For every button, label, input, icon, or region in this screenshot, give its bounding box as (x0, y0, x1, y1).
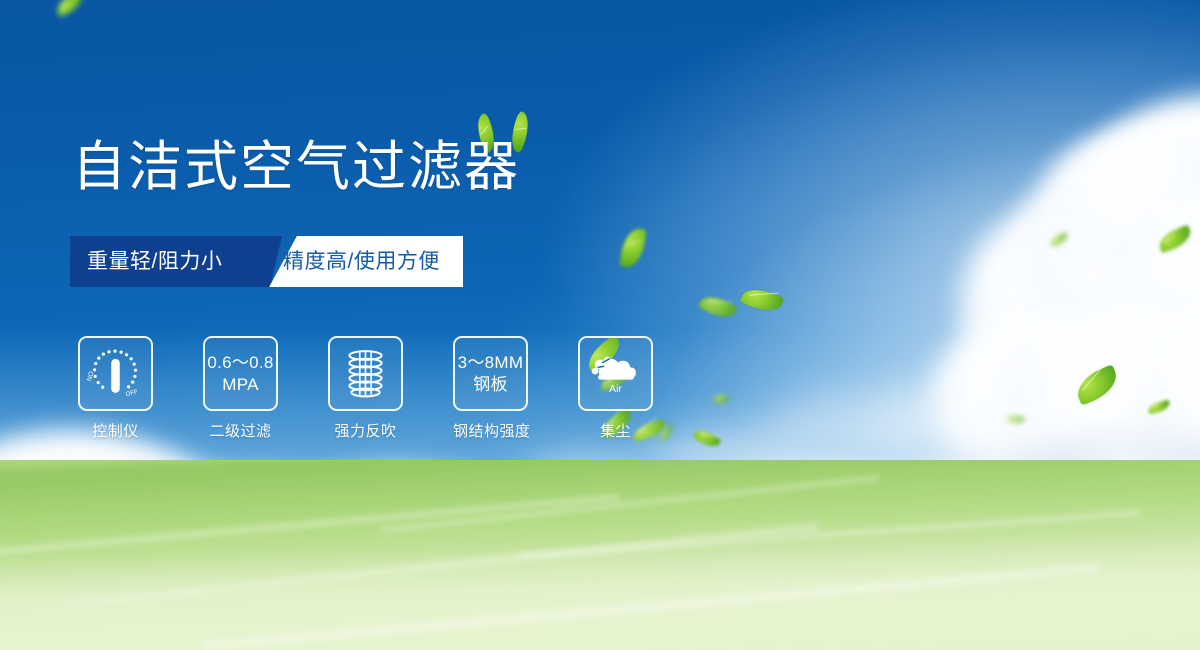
gauge-label-off: OFF (125, 388, 139, 398)
feature-item-backblow[interactable]: 强力反吹 (328, 336, 403, 441)
subtitle-right-text: 精度高/使用方便 (283, 236, 440, 287)
grass-field (0, 460, 1200, 650)
feature-box-line1: 0.6～0.8 (207, 352, 273, 373)
feature-box-line2: MPA (222, 374, 258, 395)
feature-item-controller[interactable]: NO OFF 控制仪 (78, 336, 153, 441)
subtitle-bar: 重量轻/阻力小 精度高/使用方便 (70, 236, 463, 287)
feature-label: 二级过滤 (203, 420, 278, 441)
feature-icon-box: Air (578, 336, 653, 411)
steel-plate-text-icon: 3～8MM 钢板 (455, 338, 526, 409)
feature-icon-box: 0.6～0.8 MPA (203, 336, 278, 411)
feature-item-pressure[interactable]: 0.6～0.8 MPA 二级过滤 (203, 336, 278, 441)
feature-label: 强力反吹 (328, 420, 403, 441)
feature-box-line1: 3～8MM (458, 352, 524, 373)
feature-item-steel[interactable]: 3～8MM 钢板 钢结构强度 (453, 336, 528, 441)
product-banner: 自洁式空气过滤器 重量轻/阻力小 精度高/使用方便 (0, 0, 1200, 650)
feature-icon-box: 3～8MM 钢板 (453, 336, 528, 411)
feature-icon-box: NO OFF (78, 336, 153, 411)
feature-label: 控制仪 (78, 420, 153, 441)
gauge-label-on: NO (86, 371, 95, 382)
feature-label: 钢结构强度 (453, 420, 528, 441)
page-title: 自洁式空气过滤器 (72, 140, 520, 194)
feature-list: NO OFF 控制仪 0.6～0.8 MPA 二级过滤 (78, 336, 653, 441)
feature-box-line1: Air (609, 384, 622, 395)
filter-coil-icon (330, 338, 401, 409)
pressure-text-icon: 0.6～0.8 MPA (205, 338, 276, 409)
feature-icon-box (328, 336, 403, 411)
feature-box-line2: 钢板 (473, 374, 508, 395)
air-cloud-icon: Air (580, 338, 651, 409)
subtitle-left-text: 重量轻/阻力小 (87, 236, 222, 287)
gauge-icon: NO OFF (80, 338, 151, 409)
